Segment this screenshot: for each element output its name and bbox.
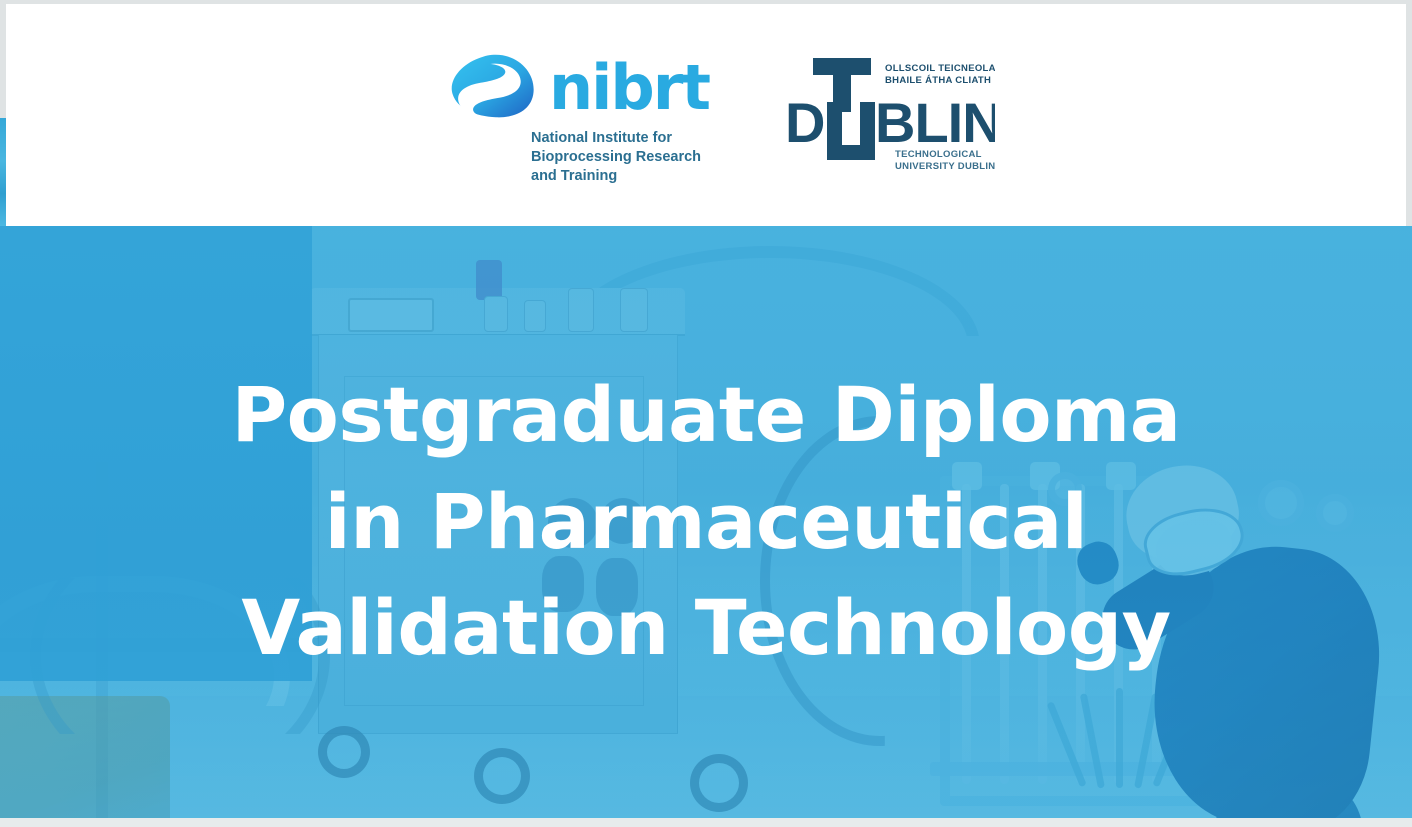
nibrt-swirl-icon [447, 52, 541, 120]
svg-text:BLIN: BLIN [875, 91, 995, 154]
site-header: nibrt National Institute for Bioprocessi… [6, 4, 1406, 226]
nibrt-logo[interactable]: nibrt National Institute for Bioprocessi… [447, 52, 709, 186]
logo-bar: nibrt National Institute for Bioprocessi… [447, 52, 995, 186]
page-title: Postgraduate Diploma in Pharmaceutical V… [206, 362, 1206, 681]
svg-text:UNIVERSITY DUBLIN: UNIVERSITY DUBLIN [895, 161, 995, 172]
window-edge-right [1406, 0, 1412, 226]
nibrt-wordmark: nibrt [549, 57, 709, 119]
svg-text:OLLSCOIL TEICNEOLAÍOCHTA: OLLSCOIL TEICNEOLAÍOCHTA [885, 63, 995, 74]
svg-text:BHAILE ÁTHA CLIATH: BHAILE ÁTHA CLIATH [885, 75, 991, 86]
svg-text:D: D [785, 91, 824, 154]
window-edge-bottom [0, 818, 1412, 827]
nibrt-logo-top: nibrt [447, 52, 709, 120]
hero-banner: Postgraduate Diploma in Pharmaceutical V… [0, 226, 1412, 818]
tu-dublin-mark: D BLIN OLLSCOIL TEICNEOLAÍOCHTA BHAILE Á… [783, 52, 995, 177]
page-root: nibrt National Institute for Bioprocessi… [0, 0, 1412, 827]
svg-text:TECHNOLOGICAL: TECHNOLOGICAL [895, 149, 982, 160]
tu-dublin-logo[interactable]: D BLIN OLLSCOIL TEICNEOLAÍOCHTA BHAILE Á… [783, 52, 995, 177]
hero-title-wrapper: Postgraduate Diploma in Pharmaceutical V… [0, 226, 1412, 818]
nibrt-tagline: National Institute for Bioprocessing Res… [531, 129, 709, 186]
